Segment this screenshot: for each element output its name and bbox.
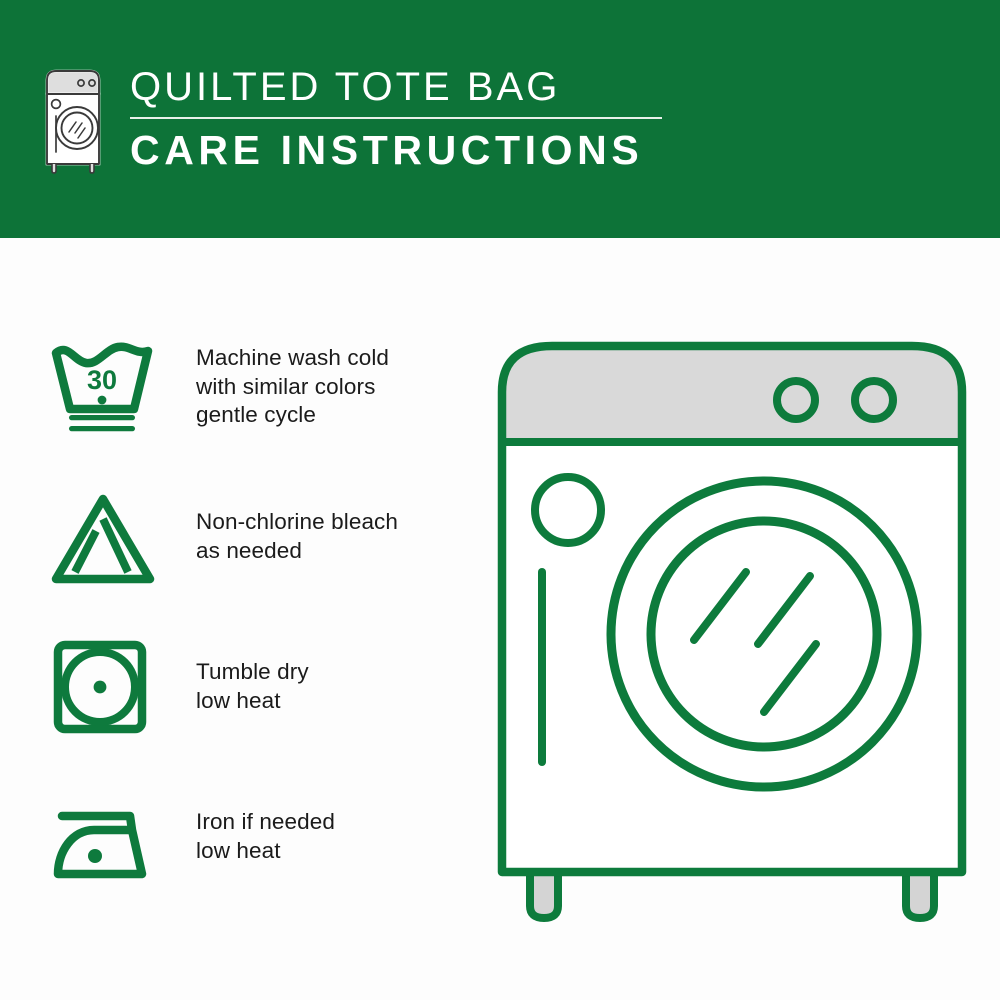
page-subtitle: CARE INSTRUCTIONS bbox=[130, 126, 662, 174]
header-title-group: QUILTED TOTE BAG CARE INSTRUCTIONS bbox=[130, 62, 662, 174]
care-text-line: Machine wash cold bbox=[196, 344, 468, 373]
header-content: QUILTED TOTE BAG CARE INSTRUCTIONS bbox=[42, 62, 662, 174]
care-item-tumble-dry-text: Tumble dry low heat bbox=[158, 630, 468, 715]
care-text-line: Tumble dry bbox=[196, 658, 468, 687]
care-item-bleach-text: Non-chlorine bleach as needed bbox=[158, 480, 468, 565]
care-text-line: Non-chlorine bleach bbox=[196, 508, 468, 537]
header-banner: QUILTED TOTE BAG CARE INSTRUCTIONS bbox=[0, 0, 1000, 238]
iron-low-heat-icon bbox=[48, 788, 158, 898]
care-item-iron-text: Iron if needed low heat bbox=[158, 780, 468, 865]
washing-machine-illustration bbox=[496, 332, 968, 922]
care-text-line: with similar colors bbox=[196, 373, 468, 402]
care-text-line: Iron if needed bbox=[196, 808, 468, 837]
non-chlorine-bleach-triangle-icon bbox=[48, 484, 158, 594]
care-instructions-page: QUILTED TOTE BAG CARE INSTRUCTIONS 30 bbox=[0, 0, 1000, 1000]
care-text-line: as needed bbox=[196, 537, 468, 566]
care-item-bleach: Non-chlorine bleach as needed bbox=[48, 480, 468, 630]
care-text-line: low heat bbox=[196, 687, 468, 716]
care-item-machine-wash-text: Machine wash cold with similar colors ge… bbox=[158, 330, 468, 430]
machine-body-fill bbox=[502, 442, 962, 872]
care-item-iron: Iron if needed low heat bbox=[48, 780, 468, 930]
care-item-tumble-dry: Tumble dry low heat bbox=[48, 630, 468, 780]
wash-temperature-label: 30 bbox=[87, 365, 117, 395]
washing-machine-icon bbox=[42, 66, 104, 174]
care-text-line: low heat bbox=[196, 837, 468, 866]
page-title: QUILTED TOTE BAG bbox=[130, 63, 662, 111]
title-divider bbox=[130, 117, 662, 119]
tumble-dry-low-heat-icon bbox=[48, 632, 158, 742]
care-item-machine-wash: 30 Machine wash cold with similar colors… bbox=[48, 330, 468, 480]
care-text-line: gentle cycle bbox=[196, 401, 468, 430]
care-instruction-list: 30 Machine wash cold with similar colors… bbox=[48, 330, 468, 930]
machine-wash-30-gentle-icon: 30 bbox=[48, 332, 158, 442]
